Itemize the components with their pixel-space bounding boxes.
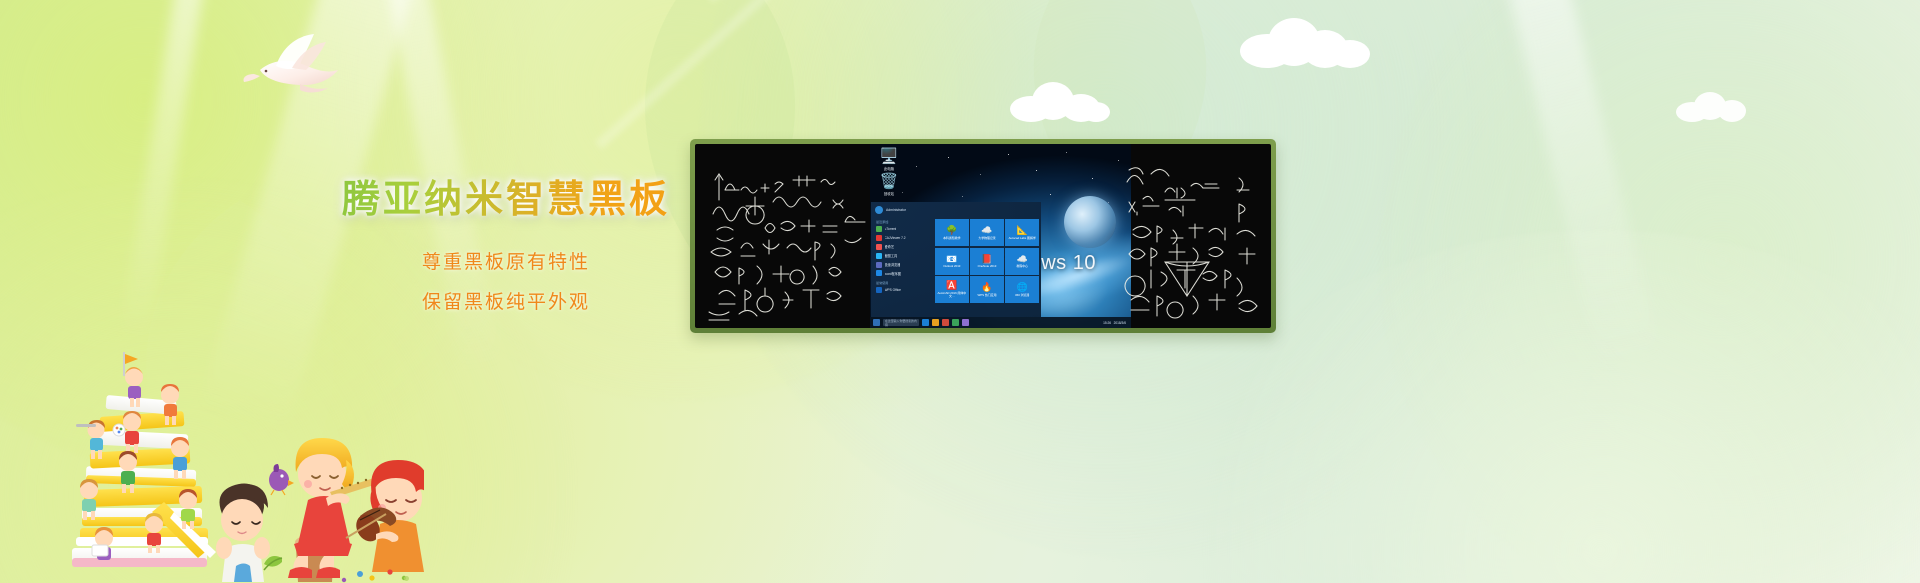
start-menu-tiles[interactable]: 🌳本科通知教学 ☁️大学物理记录 📐Autocad Labs 图解学 📧Outl… <box>933 217 1041 316</box>
outlook-icon: 📧 <box>946 254 957 264</box>
confetti-dot <box>342 578 346 582</box>
start-menu-user[interactable]: Administrator <box>871 202 1041 217</box>
app-icon <box>876 244 882 250</box>
children-illustration <box>24 352 424 583</box>
promo-text-block: 腾亚纳米智慧黑板 尊重黑板原有特性 保留黑板纯平外观 <box>336 178 676 323</box>
confetti-dot <box>369 575 374 580</box>
onenote-icon: 📕 <box>981 254 992 264</box>
start-menu-app-list[interactable]: 最近添加 µTorrent CAJViewer 7.2 爱奇艺 截图工具 极速浏… <box>871 217 933 316</box>
start-tile[interactable]: 🅰️AutoCAD 2016 简体中文… <box>935 276 969 303</box>
app-icon <box>876 287 882 293</box>
start-tile[interactable]: 📧Outlook 2013 <box>935 248 969 275</box>
start-menu-item[interactable]: CAJViewer 7.2 <box>874 234 930 243</box>
cloud-icon: ☁️ <box>981 225 992 235</box>
start-button[interactable] <box>873 319 880 326</box>
child-figure-violin <box>346 460 424 572</box>
start-tile[interactable]: 🔥WPS 热门应用 <box>970 276 1004 303</box>
desktop-icon-computer[interactable]: 🖥️ 此电脑 <box>876 149 902 171</box>
app-icon <box>876 262 882 268</box>
clock[interactable]: 15:26 <box>1103 321 1111 325</box>
autodesk-icon: 📐 <box>1017 225 1028 235</box>
start-tile[interactable]: 📐Autocad Labs 图解学 <box>1005 219 1039 246</box>
start-menu-item[interactable]: WPS Office <box>874 286 930 295</box>
cloud-icon <box>1010 82 1110 124</box>
app-icon <box>876 270 882 276</box>
chalk-notes-right <box>1121 144 1271 328</box>
desktop-icon-recycle-bin[interactable]: 🗑️ 回收站 <box>876 174 902 196</box>
confetti-dot <box>387 569 392 574</box>
confetti-dot <box>357 571 363 577</box>
start-tile[interactable]: 📕OneNote 2013 <box>970 248 1004 275</box>
start-tile[interactable]: 🌐360 浏览器 <box>1005 276 1039 303</box>
taskbar-app-icon[interactable] <box>952 319 959 326</box>
taskbar-app-icon[interactable] <box>962 319 969 326</box>
avatar <box>875 206 883 214</box>
desktop-icon-label: 回收站 <box>876 191 902 196</box>
child-figure <box>76 420 105 459</box>
search-placeholder: 在这里输入你要搜索的内容 <box>885 319 919 327</box>
promo-banner: 腾亚纳米智慧黑板 尊重黑板原有特性 保留黑板纯平外观 <box>0 0 1920 583</box>
start-menu-item[interactable]: 截图工具 <box>874 251 930 260</box>
taskbar[interactable]: 在这里输入你要搜索的内容 15:26 2018/3/6 <box>870 317 1131 328</box>
cloud-icon: ☁️ <box>1017 254 1028 264</box>
subtitle-group: 尊重黑板原有特性 保留黑板纯平外观 <box>336 243 676 323</box>
start-menu-item[interactable]: 极速浏览器 <box>874 260 930 269</box>
autocad-icon: 🅰️ <box>946 280 957 290</box>
start-menu[interactable]: Administrator 最近添加 µTorrent CAJViewer 7.… <box>871 202 1041 317</box>
recycle-bin-icon: 🗑️ <box>876 174 902 190</box>
start-tile[interactable]: 🌳本科通知教学 <box>935 219 969 246</box>
bird-icon <box>269 464 294 495</box>
start-menu-item[interactable]: µTorrent <box>874 225 930 234</box>
start-tile[interactable]: ☁️教程中心 <box>1005 248 1039 275</box>
app-icon <box>876 235 882 241</box>
start-tile[interactable]: ☁️大学物理记录 <box>970 219 1004 246</box>
chrome-icon: 🌐 <box>1017 282 1028 292</box>
taskbar-app-icon[interactable] <box>942 319 949 326</box>
subtitle-line-2: 保留黑板纯平外观 <box>336 283 676 323</box>
cloud-icon <box>1676 92 1750 122</box>
dove-icon <box>242 30 342 96</box>
start-menu-item[interactable]: word程序图 <box>874 269 930 278</box>
cloud-icon <box>1240 18 1370 70</box>
system-tray[interactable]: 15:26 2018/3/6 <box>1103 321 1128 325</box>
chalk-notes-left <box>695 144 870 328</box>
confetti-dot <box>404 576 409 581</box>
taskbar-app-icon[interactable] <box>922 319 929 326</box>
search-input[interactable]: 在这里输入你要搜索的内容 <box>883 319 919 326</box>
tree-icon: 🌳 <box>946 225 957 235</box>
computer-icon: 🖥️ <box>876 149 902 165</box>
desktop-icon-label: 此电脑 <box>876 166 902 171</box>
smart-blackboard-device: Windows 10 🖥️ 此电脑 🗑️ 回收站 Administrator <box>690 139 1276 333</box>
start-menu-section-label: 最近添加 <box>874 217 930 225</box>
start-menu-section-label: 最常使用 <box>874 278 930 286</box>
windows-desktop: Windows 10 🖥️ 此电脑 🗑️ 回收站 Administrator <box>870 144 1131 328</box>
flame-icon: 🔥 <box>981 282 992 292</box>
app-icon <box>876 253 882 259</box>
taskbar-app-icon[interactable] <box>932 319 939 326</box>
start-menu-item[interactable]: 爱奇艺 <box>874 243 930 252</box>
start-menu-user-label: Administrator <box>886 208 906 212</box>
child-figure-sitting <box>216 484 270 582</box>
blackboard-surface: Windows 10 🖥️ 此电脑 🗑️ 回收站 Administrator <box>695 144 1271 328</box>
page-title: 腾亚纳米智慧黑板 <box>336 178 676 223</box>
date[interactable]: 2018/3/6 <box>1114 321 1126 325</box>
subtitle-line-1: 尊重黑板原有特性 <box>336 243 676 283</box>
app-icon <box>876 226 882 232</box>
child-figure-flute <box>288 438 384 578</box>
